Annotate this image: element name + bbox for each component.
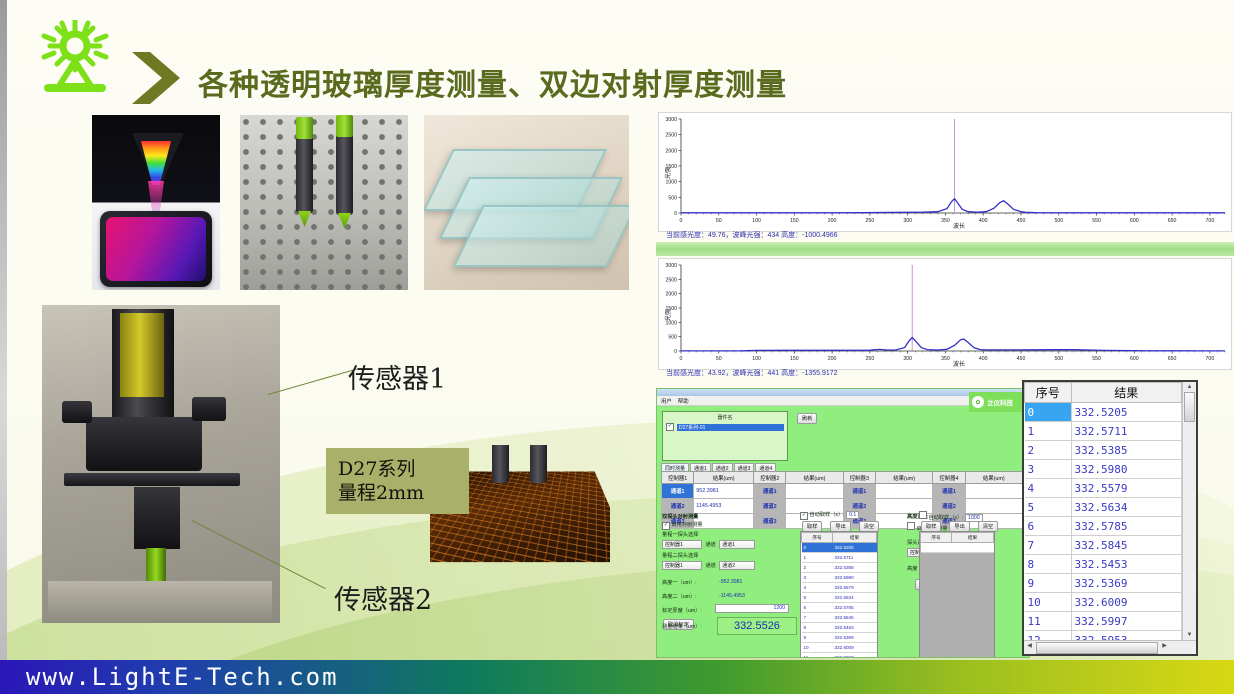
spectrum-chart-top-svg: 0500100015002000250030000501001502002503…: [659, 113, 1231, 231]
probe1-group-label: 量程一探头选择: [662, 531, 698, 538]
svg-text:500: 500: [1054, 218, 1063, 224]
col-result-2: 结果(um): [786, 472, 843, 484]
menu-item-help[interactable]: 帮助: [678, 397, 689, 405]
svg-text:250: 250: [866, 356, 875, 362]
probe1-selectors[interactable]: 控制器1 通道 通道1: [662, 540, 755, 549]
footer-bar: www.LightE-Tech.com: [0, 660, 1234, 694]
svg-text:450: 450: [1017, 218, 1026, 224]
col-result-4: 结果(um): [965, 472, 1022, 484]
probe-left-green-cap: [296, 117, 313, 139]
col-result-1: 结果(um): [694, 472, 754, 484]
chevron-right-icon: [128, 50, 188, 106]
svg-text:3000: 3000: [665, 117, 677, 123]
machine-head: [86, 417, 202, 471]
result-value-cell: 332.5785: [1071, 517, 1182, 536]
mini-table-header: 序号 结果: [802, 533, 877, 543]
enable-dual-probe-checkbox[interactable]: ✓: [662, 522, 670, 530]
svg-text:700: 700: [1206, 356, 1215, 362]
svg-text:0: 0: [674, 349, 677, 355]
svg-text:100: 100: [752, 218, 761, 224]
ch-cell[interactable]: 通道1: [933, 484, 965, 499]
software-logo: ✿ 立仪科技: [969, 392, 1025, 412]
measure-result-value: 332.5526: [717, 617, 797, 635]
probe2-channel-select[interactable]: 通道2: [719, 561, 755, 570]
col-controller-4: 控制器4: [933, 472, 965, 484]
svg-text:100: 100: [752, 356, 761, 362]
col-controller-2: 控制器2: [754, 472, 786, 484]
svg-text:50: 50: [716, 356, 722, 362]
machine-stage-plate: [64, 473, 240, 486]
value-cell: 1145.4953: [694, 499, 754, 514]
spec-callout-box: D27系列 量程2mm: [326, 448, 469, 514]
spectrum-chart-bottom-svg: 0500100015002000250030000501001502002503…: [659, 259, 1231, 369]
photo-measurement-machine: [42, 305, 280, 623]
result-index-cell: 5: [1025, 498, 1072, 517]
mini-index-cell: 1: [802, 553, 833, 563]
svg-text:150: 150: [790, 218, 799, 224]
phone-screen-shape: [106, 217, 206, 281]
svg-text:光强: 光强: [664, 167, 672, 179]
wave-probe-2-body: [530, 445, 547, 483]
measurement-software-window: 用户 帮助 ✿ 立仪科技 器件名 ✓ D27系列-01 刷新 同时测量 通道1 …: [656, 388, 1030, 658]
ch-cell[interactable]: 通道1: [662, 484, 694, 499]
scroll-right-arrow[interactable]: ▶: [1159, 641, 1170, 651]
value-cell: [965, 484, 1022, 499]
svg-text:700: 700: [1206, 218, 1215, 224]
svg-text:350: 350: [941, 356, 950, 362]
table-row[interactable]: 11332.5997: [802, 653, 877, 659]
results-vertical-scrollbar[interactable]: ▲ ▼: [1182, 382, 1196, 640]
result-value-cell: 332.5845: [1071, 536, 1182, 555]
height1-label: 高度一（um）:: [662, 579, 697, 586]
pin-array-pattern: [240, 115, 408, 290]
mini-value-cell: 332.6009: [833, 643, 877, 653]
table-row[interactable]: 7332.5845: [1025, 536, 1182, 555]
table-row[interactable]: 1332.5711: [1025, 422, 1182, 441]
svg-text:500: 500: [668, 195, 677, 201]
device-list-item[interactable]: ✓ D27系列-01: [666, 423, 784, 431]
mini-index-cell: 5: [802, 593, 833, 603]
svg-text:650: 650: [1168, 356, 1177, 362]
page-title: 各种透明玻璃厚度测量、双边对射厚度测量: [198, 60, 787, 104]
scroll-down-arrow[interactable]: ▼: [1183, 630, 1196, 640]
svg-text:550: 550: [1092, 356, 1101, 362]
mini-index-cell: 8: [802, 623, 833, 633]
measurement-table-header: 控制器1 结果(um) 控制器2 结果(um) 控制器3 结果(um) 控制器4…: [662, 472, 1023, 484]
table-row[interactable]: 8332.5453: [802, 623, 877, 633]
results-table-header: 序号 结果: [1025, 383, 1182, 403]
result-index-cell: 10: [1025, 593, 1072, 612]
result-index-cell: 1: [1025, 422, 1072, 441]
spectrum-chart-top: 0500100015002000250030000501001502002503…: [658, 112, 1232, 232]
mini-value-cell: 332.5385: [833, 563, 877, 573]
mini-value-cell: 332.5980: [833, 573, 877, 583]
machine-base: [48, 581, 272, 623]
spec-range-label: 量程2mm: [338, 481, 424, 505]
mini-value-cell: 332.5369: [833, 633, 877, 643]
result-index-cell: 2: [1025, 441, 1072, 460]
result-value-cell: 332.5711: [1071, 422, 1182, 441]
auto-sample-right-checkbox[interactable]: [919, 511, 927, 519]
auto-sample-left-checkbox[interactable]: ✓: [800, 512, 808, 520]
table-row[interactable]: 5332.5634: [802, 593, 877, 603]
glass-sheet-3: [453, 205, 629, 267]
mini-value-cell: 332.5579: [833, 583, 877, 593]
svg-text:200: 200: [828, 356, 837, 362]
svg-text:500: 500: [1054, 356, 1063, 362]
svg-text:400: 400: [979, 218, 988, 224]
ch-cell[interactable]: 通道2: [662, 499, 694, 514]
probe1-channel-select[interactable]: 通道1: [719, 540, 755, 549]
mini-index-cell: 9: [802, 633, 833, 643]
result-index-cell: 9: [1025, 574, 1072, 593]
svg-text:2500: 2500: [665, 133, 677, 139]
auto-sample-left-input[interactable]: 0.1: [846, 511, 859, 519]
value-cell: [786, 484, 843, 499]
menu-item-user[interactable]: 用户: [661, 397, 672, 405]
table-row[interactable]: 9332.5369: [1025, 574, 1182, 593]
table-row[interactable]: 8332.5453: [1025, 555, 1182, 574]
sensor2-label: 传感器2: [334, 578, 432, 617]
svg-text:450: 450: [1017, 356, 1026, 362]
svg-text:3000: 3000: [665, 263, 677, 269]
mini-index-cell: 7: [802, 613, 833, 623]
scroll-thumb-vertical[interactable]: [1184, 392, 1195, 422]
ch-cell[interactable]: 通道2: [754, 499, 786, 514]
table-row[interactable]: 4332.5579: [1025, 479, 1182, 498]
empty-cell: [952, 543, 994, 553]
probe1-channel-text: 通道: [705, 542, 715, 548]
refresh-button[interactable]: 刷新: [797, 413, 817, 424]
value-cell: [875, 484, 932, 499]
scroll-up-arrow[interactable]: ▲: [1183, 382, 1196, 392]
svg-text:0: 0: [674, 211, 677, 217]
svg-text:650: 650: [1168, 218, 1177, 224]
mini-index-cell: 2: [802, 563, 833, 573]
company-name-label: 立仪科技: [987, 397, 1013, 407]
results-window: 序号 结果 0332.52051332.57112332.53853332.59…: [1022, 380, 1198, 656]
mini-col-index-right: 序号: [921, 533, 952, 543]
table-row[interactable]: 10332.6009: [802, 643, 877, 653]
result-index-cell: 3: [1025, 460, 1072, 479]
results-horizontal-scrollbar[interactable]: ◀ ▶: [1024, 640, 1196, 654]
chart-top-status: 当前感光度：49.76，波峰光强：434 高度：-1000.4966: [666, 230, 838, 240]
probe2-selectors[interactable]: 控制器1 通道 通道2: [662, 561, 755, 570]
svg-text:2500: 2500: [665, 277, 677, 283]
svg-text:1000: 1000: [665, 180, 677, 186]
svg-text:350: 350: [941, 218, 950, 224]
photo-probe-array: [240, 115, 408, 290]
table-row[interactable]: 2332.5385: [1025, 441, 1182, 460]
scroll-left-arrow[interactable]: ◀: [1024, 641, 1035, 651]
mini-col-result-right: 结果: [952, 533, 994, 543]
height1-value: -952.3981: [719, 579, 742, 585]
probe2-group-label: 量程二探头选择: [662, 552, 698, 559]
spectrum-chart-bottom: 0500100015002000250030000501001502002503…: [658, 258, 1232, 370]
result-index-cell: 7: [1025, 536, 1072, 555]
result-index-cell: 0: [1025, 403, 1072, 422]
table-row[interactable]: 6332.5785: [1025, 517, 1182, 536]
table-row[interactable]: 7332.5845: [802, 613, 877, 623]
calibration-thickness-input[interactable]: 1200: [715, 604, 789, 613]
device-list-box[interactable]: 器件名 ✓ D27系列-01: [662, 411, 788, 461]
ch-cell[interactable]: 通道1: [843, 484, 875, 499]
light-beam-shape: [148, 181, 164, 215]
svg-text:250: 250: [866, 218, 875, 224]
svg-text:200: 200: [828, 218, 837, 224]
result-value-cell: 332.5634: [1071, 498, 1182, 517]
result-value-cell: 332.5997: [1071, 612, 1182, 631]
table-row[interactable]: 通道1 952.3981 通道1 通道1 通道1: [662, 484, 1023, 499]
slide-header: 各种透明玻璃厚度测量、双边对射厚度测量: [0, 0, 1234, 112]
sample-results-table-right[interactable]: 序号 结果: [919, 531, 995, 658]
measure-result-label: 测量结果（um）:: [662, 623, 702, 630]
machine-knob-right: [192, 397, 226, 421]
company-logo-icon: ✿: [972, 396, 984, 408]
mini-index-cell: 4: [802, 583, 833, 593]
table-row[interactable]: 9332.5369: [802, 633, 877, 643]
ch-cell[interactable]: 通道1: [754, 484, 786, 499]
svg-text:500: 500: [668, 335, 677, 341]
table-row[interactable]: 0332.5205: [1025, 403, 1182, 422]
mini-index-cell: 0: [802, 543, 833, 553]
height2-value: -1145.4953: [719, 593, 745, 599]
table-row[interactable]: 2332.5385: [802, 563, 877, 573]
photo-glass-sheets: [424, 115, 629, 290]
machine-knob-left: [62, 401, 92, 423]
ch-cell[interactable]: 通道3: [754, 514, 786, 529]
svg-text:50: 50: [716, 218, 722, 224]
device-name-label[interactable]: D27系列-01: [677, 424, 784, 431]
mini-value-cell: 332.5785: [833, 603, 877, 613]
mini-col-result: 结果: [833, 533, 877, 543]
dual-probe-group-title: 双探头对射测量: [662, 513, 698, 520]
svg-text:300: 300: [903, 218, 912, 224]
result-value-cell: 332.5369: [1071, 574, 1182, 593]
mini-value-cell: 332.5453: [833, 623, 877, 633]
table-row[interactable]: 6332.5785: [802, 603, 877, 613]
mini-index-cell: 3: [802, 573, 833, 583]
probe1-controller-select[interactable]: 控制器1: [662, 540, 702, 549]
divider-strip: [656, 242, 1234, 256]
svg-text:2000: 2000: [665, 148, 677, 154]
scroll-thumb-horizontal[interactable]: [1036, 642, 1158, 654]
result-index-cell: 6: [1025, 517, 1072, 536]
device-checkbox[interactable]: ✓: [666, 423, 674, 431]
svg-text:150: 150: [790, 356, 799, 362]
mini-table-header-right: 序号 结果: [921, 533, 994, 543]
device-list-header: 器件名: [663, 412, 787, 421]
mini-value-cell: 332.5997: [833, 653, 877, 659]
result-value-cell: 332.5385: [1071, 441, 1182, 460]
mini-value-cell: 332.5634: [833, 593, 877, 603]
table-row[interactable]: 10332.6009: [1025, 593, 1182, 612]
table-row[interactable]: 1332.5711: [802, 553, 877, 563]
empty-cell: [921, 543, 952, 553]
col-controller-3: 控制器3: [843, 472, 875, 484]
table-row[interactable]: 5332.5634: [1025, 498, 1182, 517]
svg-text:光强: 光强: [664, 309, 672, 321]
svg-text:波长: 波长: [953, 360, 965, 368]
table-row[interactable]: 4332.5579: [802, 583, 877, 593]
svg-text:550: 550: [1092, 218, 1101, 224]
table-row[interactable]: 11332.5997: [1025, 612, 1182, 631]
results-col-value: 结果: [1071, 383, 1182, 403]
svg-text:400: 400: [979, 356, 988, 362]
svg-text:600: 600: [1130, 218, 1139, 224]
table-row[interactable]: 0332.5205: [802, 543, 877, 553]
mini-value-cell: 332.5711: [833, 553, 877, 563]
result-value-cell: 332.6009: [1071, 593, 1182, 612]
sample-results-table-left[interactable]: 序号 结果 0332.52051332.57112332.53853332.59…: [800, 531, 878, 658]
mini-value-cell: 332.5205: [833, 543, 877, 553]
enable-dual-probe-row[interactable]: ✓ 启用对射测量: [662, 521, 703, 530]
auto-sample-left-label: 自动取样（s）:: [809, 512, 844, 518]
mini-index-cell: 6: [802, 603, 833, 613]
auto-sample-right-row[interactable]: 自动取样（s）: 1000: [919, 511, 983, 521]
enable-height-checkbox[interactable]: [907, 522, 915, 530]
svg-text:0: 0: [680, 218, 683, 224]
svg-text:2000: 2000: [665, 292, 677, 298]
probe-right-green-cap: [336, 115, 353, 137]
spec-series-label: D27系列: [338, 457, 415, 481]
result-value-cell: 332.5579: [1071, 479, 1182, 498]
svg-text:300: 300: [903, 356, 912, 362]
sensor1-label: 传感器1: [348, 357, 446, 396]
photo-confocal-sensor-phone: [92, 115, 220, 290]
table-row[interactable]: [921, 543, 994, 553]
mini-value-cell: 332.5845: [833, 613, 877, 623]
table-row[interactable]: 3332.5980: [802, 573, 877, 583]
chart-bottom-status: 当前感光度：43.92，波峰光强：441 高度：-1355.9172: [666, 368, 838, 378]
svg-text:600: 600: [1130, 356, 1139, 362]
svg-text:波长: 波长: [953, 222, 965, 230]
sun-flower-icon: [38, 20, 112, 94]
result-index-cell: 11: [1025, 612, 1072, 631]
result-index-cell: 4: [1025, 479, 1072, 498]
mini-col-index: 序号: [802, 533, 833, 543]
mini-index-cell: 10: [802, 643, 833, 653]
result-value-cell: 332.5453: [1071, 555, 1182, 574]
probe2-controller-select[interactable]: 控制器1: [662, 561, 702, 570]
machine-lower-head: [134, 487, 180, 549]
auto-sample-left-row[interactable]: ✓ 自动取样（s）: 0.1: [800, 511, 859, 520]
result-value-cell: 332.5980: [1071, 460, 1182, 479]
enable-dual-probe-label: 启用对射测量: [671, 522, 702, 528]
svg-text:0: 0: [680, 356, 683, 362]
result-index-cell: 8: [1025, 555, 1072, 574]
wave-probe-1-body: [492, 445, 509, 483]
col-controller-1: 控制器1: [662, 472, 694, 484]
results-table[interactable]: 序号 结果 0332.52051332.57112332.53853332.59…: [1024, 382, 1182, 656]
machine-yellow-part: [120, 313, 164, 397]
mini-index-cell: 11: [802, 653, 833, 659]
value-cell: 952.3981: [694, 484, 754, 499]
col-result-3: 结果(um): [875, 472, 932, 484]
result-value-cell: 332.5205: [1071, 403, 1182, 422]
calibration-thickness-label: 标定厚度（um）:: [662, 607, 702, 614]
results-col-index: 序号: [1025, 383, 1072, 403]
probe2-channel-text: 通道: [705, 563, 715, 569]
table-row[interactable]: 3332.5980: [1025, 460, 1182, 479]
footer-url: www.LightE-Tech.com: [26, 663, 339, 691]
height2-label: 高度二（um）:: [662, 593, 697, 600]
